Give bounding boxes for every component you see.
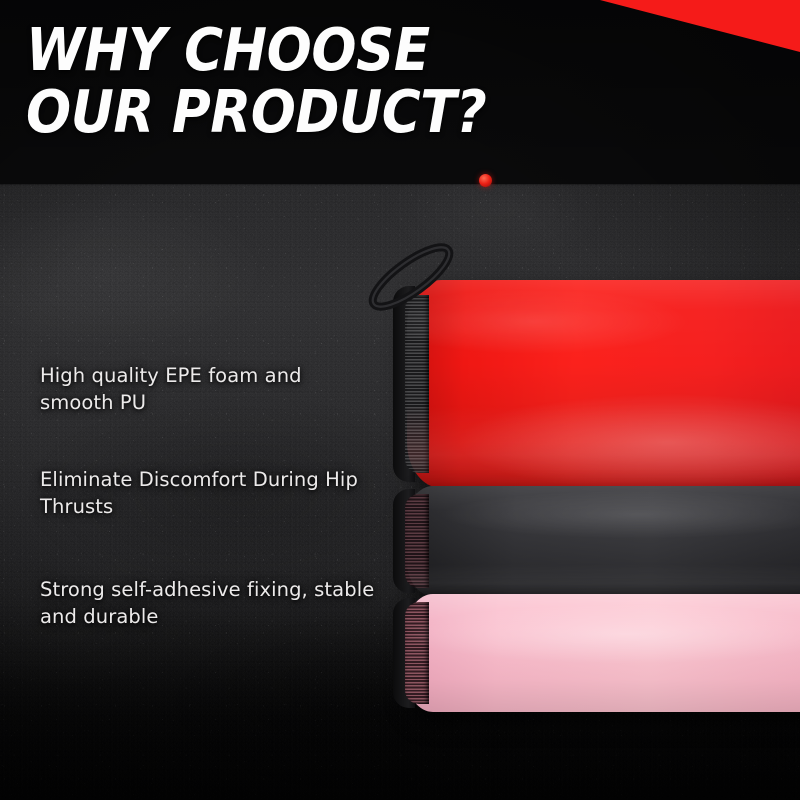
headline-line-1: WHY CHOOSE bbox=[26, 21, 486, 79]
red-accent-dot bbox=[479, 174, 492, 187]
zipper-track-pink bbox=[405, 602, 429, 703]
feature-item-2: Eliminate Discomfort During Hip Thrusts bbox=[40, 466, 380, 521]
product-feature-poster: WHY CHOOSE OUR PRODUCT? High quality EPE… bbox=[0, 0, 800, 800]
pad-gloss-pink bbox=[407, 594, 800, 712]
product-image-stack bbox=[352, 228, 800, 723]
barbell-pad-red bbox=[407, 280, 800, 488]
pad-gloss-red bbox=[407, 280, 800, 488]
zipper-track-black bbox=[405, 494, 429, 589]
pad-gloss-black bbox=[407, 486, 800, 596]
barbell-pad-black bbox=[407, 486, 800, 596]
headline-line-2: OUR PRODUCT? bbox=[26, 83, 486, 141]
feature-item-3: Strong self-adhesive fixing, stable and … bbox=[40, 576, 380, 631]
feature-item-1: High quality EPE foam and smooth PU bbox=[40, 362, 380, 417]
poster-headline: WHY CHOOSE OUR PRODUCT? bbox=[26, 21, 486, 142]
feature-list: High quality EPE foam and smooth PU Elim… bbox=[40, 362, 380, 631]
zipper-track-red bbox=[405, 295, 429, 474]
barbell-pad-pink bbox=[407, 594, 800, 712]
